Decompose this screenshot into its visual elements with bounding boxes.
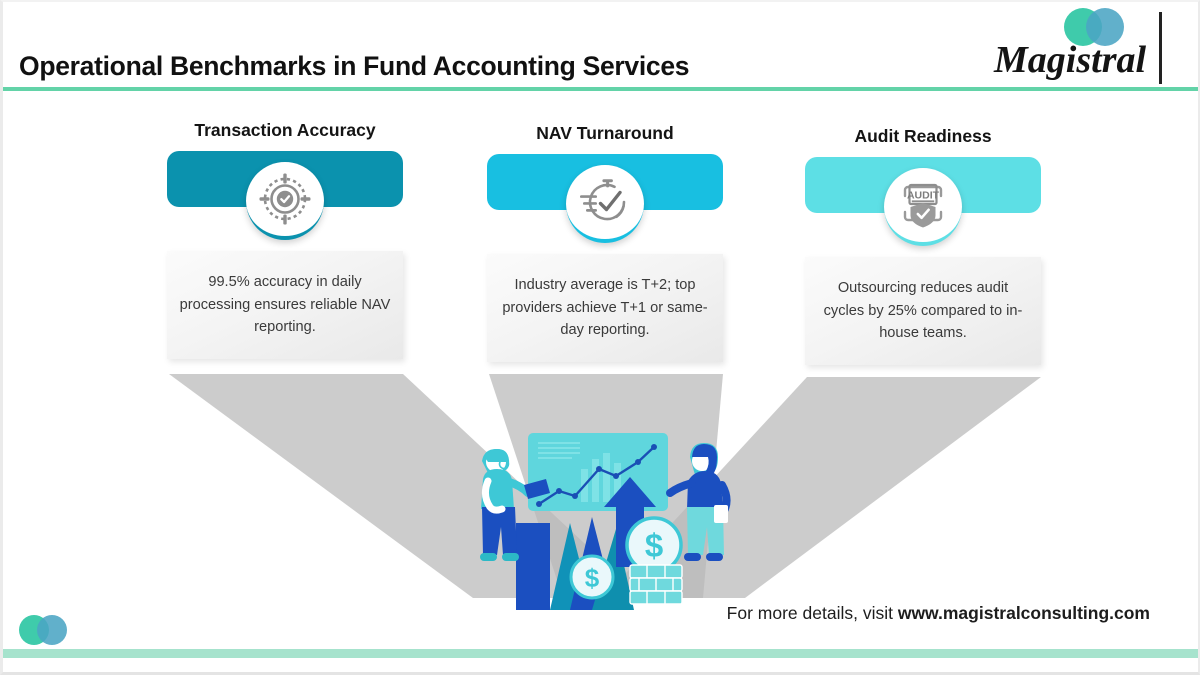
card-title: Audit Readiness: [805, 126, 1041, 147]
coin-currency-symbol: $: [645, 527, 663, 564]
card-icon-circle: [566, 165, 644, 243]
card-title: NAV Turnaround: [487, 123, 723, 144]
card-banner: [487, 154, 723, 210]
benchmark-card-transaction-accuracy: Transaction Accuracy 99.5% accuracy in d…: [167, 120, 403, 359]
card-title: Transaction Accuracy: [167, 120, 403, 141]
card-body-text: Industry average is T+2; top providers a…: [487, 254, 723, 362]
audit-shield-icon: AUDIT: [894, 176, 952, 234]
stopwatch-check-icon: [576, 173, 634, 231]
card-banner: [167, 151, 403, 207]
page-title: Operational Benchmarks in Fund Accountin…: [19, 51, 689, 82]
logo-wordmark: Magistral: [994, 38, 1146, 82]
card-body-text: 99.5% accuracy in daily processing ensur…: [167, 251, 403, 359]
financial-analytics-illustration: $ $: [458, 417, 758, 617]
benchmark-card-audit-readiness: Audit Readiness AUDIT Outsourcing reduce…: [805, 126, 1041, 365]
footer-cta: For more details, visit www.magistralcon…: [727, 603, 1150, 624]
footer-divider: [3, 649, 1200, 658]
benchmark-card-nav-turnaround: NAV Turnaround Industry average is T+2; …: [487, 123, 723, 362]
footer-circle-blue-icon: [37, 615, 67, 645]
slide-canvas: Operational Benchmarks in Fund Accountin…: [0, 0, 1200, 675]
brand-logo: Magistral: [990, 6, 1180, 88]
footer-logo-mark: [19, 615, 79, 645]
footer-prefix-text: For more details, visit: [727, 603, 898, 623]
card-body-text: Outsourcing reduces audit cycles by 25% …: [805, 257, 1041, 365]
card-icon-circle: AUDIT: [884, 168, 962, 246]
footer-website-link[interactable]: www.magistralconsulting.com: [898, 603, 1150, 623]
card-banner: AUDIT: [805, 157, 1041, 213]
card-icon-circle: [246, 162, 324, 240]
coin-currency-symbol-small: $: [585, 563, 600, 593]
audit-icon-label: AUDIT: [907, 190, 940, 202]
logo-divider-bar: [1159, 12, 1162, 84]
target-check-icon: [256, 170, 314, 228]
